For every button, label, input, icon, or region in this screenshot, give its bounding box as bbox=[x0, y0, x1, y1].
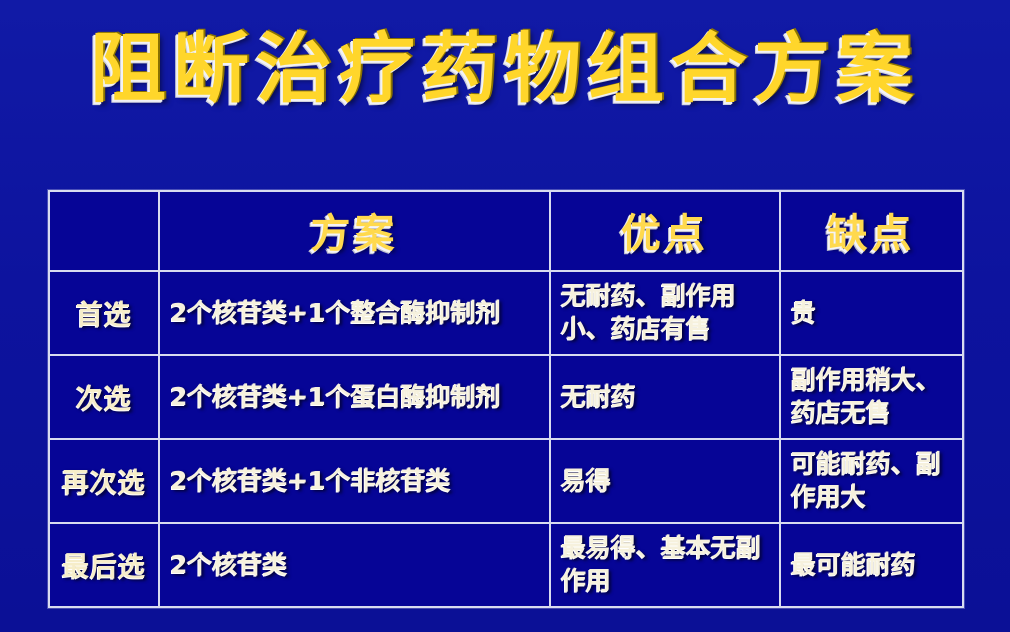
header-cons-label: 缺点 bbox=[791, 201, 952, 259]
row-label-cell: 次选 bbox=[49, 355, 159, 439]
row-pros-text: 无耐药、副作用小、药店有售 bbox=[561, 279, 769, 345]
row-plan-text: 2个核苷类+1个蛋白酶抑制剂 bbox=[170, 380, 539, 413]
row-cons-cell: 最可能耐药 bbox=[780, 523, 963, 607]
row-pros-text: 最易得、基本无副作用 bbox=[561, 531, 769, 597]
header-cell-plan: 方案 bbox=[159, 191, 550, 271]
table-row: 次选 2个核苷类+1个蛋白酶抑制剂 无耐药 副作用稍大、药店无售 bbox=[49, 355, 963, 439]
header-cell-cons: 缺点 bbox=[780, 191, 963, 271]
header-pros-label: 优点 bbox=[561, 201, 769, 259]
row-plan-cell: 2个核苷类+1个整合酶抑制剂 bbox=[159, 271, 550, 355]
table-row: 首选 2个核苷类+1个整合酶抑制剂 无耐药、副作用小、药店有售 贵 bbox=[49, 271, 963, 355]
table-row: 再次选 2个核苷类+1个非核苷类 易得 可能耐药、副作用大 bbox=[49, 439, 963, 523]
row-label-text: 次选 bbox=[60, 377, 148, 416]
header-cell-pros: 优点 bbox=[550, 191, 780, 271]
row-label-cell: 再次选 bbox=[49, 439, 159, 523]
row-pros-cell: 易得 bbox=[550, 439, 780, 523]
slide-canvas: 阻断治疗药物组合方案 方案 bbox=[0, 0, 1010, 632]
row-cons-text: 副作用稍大、药店无售 bbox=[791, 363, 952, 429]
table-row: 最后选 2个核苷类 最易得、基本无副作用 最可能耐药 bbox=[49, 523, 963, 607]
row-pros-cell: 无耐药 bbox=[550, 355, 780, 439]
row-plan-text: 2个核苷类+1个非核苷类 bbox=[170, 464, 539, 497]
row-pros-cell: 无耐药、副作用小、药店有售 bbox=[550, 271, 780, 355]
row-plan-text: 2个核苷类 bbox=[170, 548, 539, 581]
row-plan-cell: 2个核苷类+1个蛋白酶抑制剂 bbox=[159, 355, 550, 439]
row-label-cell: 首选 bbox=[49, 271, 159, 355]
row-pros-cell: 最易得、基本无副作用 bbox=[550, 523, 780, 607]
row-cons-text: 最可能耐药 bbox=[791, 548, 952, 581]
page-title: 阻断治疗药物组合方案 bbox=[0, 26, 1010, 113]
row-label-cell: 最后选 bbox=[49, 523, 159, 607]
row-cons-text: 可能耐药、副作用大 bbox=[791, 447, 952, 513]
row-plan-cell: 2个核苷类 bbox=[159, 523, 550, 607]
row-pros-text: 易得 bbox=[561, 464, 769, 497]
row-cons-cell: 可能耐药、副作用大 bbox=[780, 439, 963, 523]
row-cons-text: 贵 bbox=[791, 296, 952, 329]
drug-regimen-table: 方案 优点 缺点 首选 bbox=[48, 190, 964, 608]
row-label-text: 最后选 bbox=[60, 545, 148, 584]
row-plan-cell: 2个核苷类+1个非核苷类 bbox=[159, 439, 550, 523]
row-cons-cell: 贵 bbox=[780, 271, 963, 355]
row-pros-text: 无耐药 bbox=[561, 380, 769, 413]
table-header-row: 方案 优点 缺点 bbox=[49, 191, 963, 271]
header-plan-label: 方案 bbox=[170, 201, 539, 259]
row-label-text: 再次选 bbox=[60, 461, 148, 500]
row-label-text: 首选 bbox=[60, 293, 148, 332]
row-cons-cell: 副作用稍大、药店无售 bbox=[780, 355, 963, 439]
row-plan-text: 2个核苷类+1个整合酶抑制剂 bbox=[170, 296, 539, 329]
header-cell-corner bbox=[49, 191, 159, 271]
